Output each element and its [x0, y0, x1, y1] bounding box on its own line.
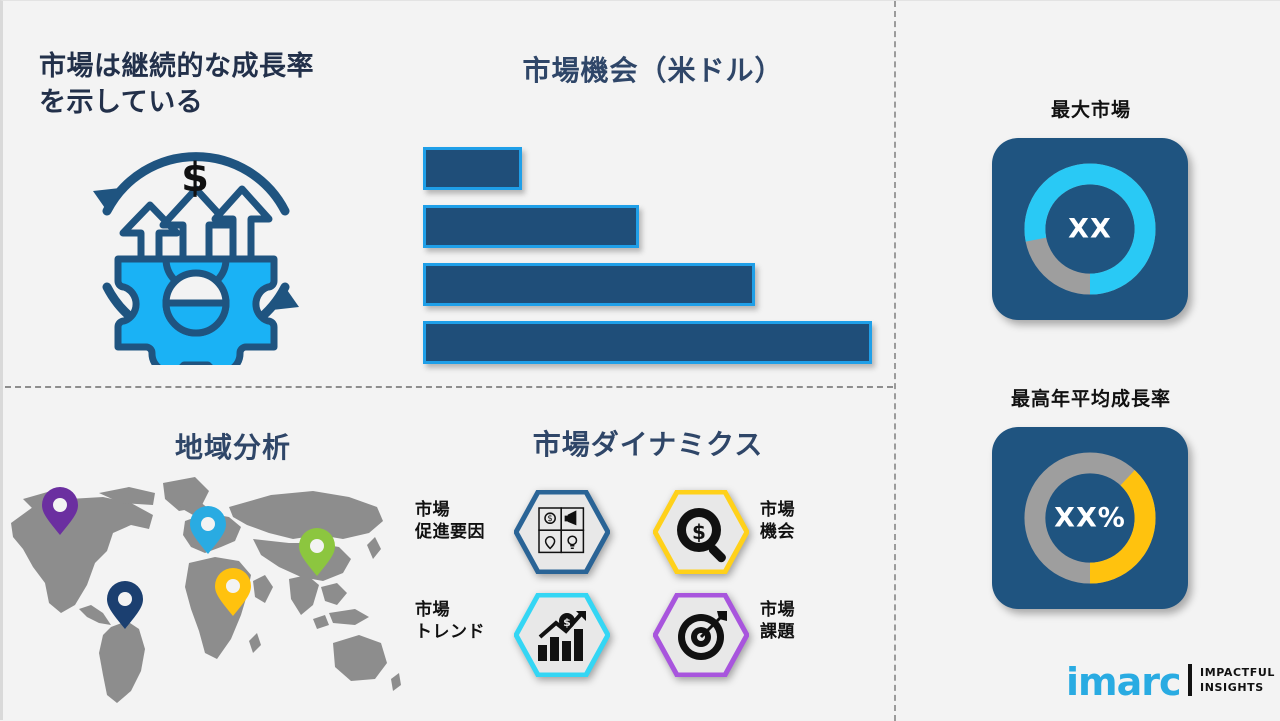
market-trends-hex[interactable]: $	[514, 593, 610, 677]
market-challenges-hex[interactable]	[653, 593, 749, 677]
svg-text:$: $	[563, 616, 571, 629]
bar-3	[423, 263, 755, 306]
bar-row	[423, 263, 755, 306]
highest-cagr-title: 最高年平均成長率	[941, 384, 1241, 411]
market-dynamics-title: 市場ダイナミクス	[413, 423, 883, 463]
largest-market-title: 最大市場	[941, 95, 1241, 122]
bar-2	[423, 205, 639, 248]
market-drivers-hex[interactable]: $	[514, 490, 610, 574]
bar-1	[423, 147, 522, 190]
logo-divider	[1188, 664, 1192, 696]
growth-title: 市場は継続的な成長率 を示している	[39, 49, 389, 122]
horizontal-dashed-divider	[5, 386, 893, 388]
bar-row	[423, 321, 872, 364]
world-map	[3, 463, 403, 713]
slide-canvas: 市場は継続的な成長率 を示している $	[0, 0, 1280, 720]
imarc-logo: imarc IMPACTFUL INSIGHTS	[1066, 656, 1266, 704]
svg-text:$: $	[547, 513, 552, 523]
bar-4	[423, 321, 872, 364]
bar-row	[423, 147, 522, 190]
market-trends-label: 市場 トレンド	[415, 599, 485, 643]
market-challenges-label: 市場 課題	[760, 599, 795, 643]
svg-text:$: $	[692, 520, 706, 544]
bar-row	[423, 205, 639, 248]
highest-cagr-value: XX%	[992, 503, 1188, 534]
market-opportunity-hex[interactable]: $	[653, 490, 749, 574]
logo-tagline: IMPACTFUL INSIGHTS	[1200, 666, 1275, 696]
regional-analysis-title: 地域分析	[63, 426, 403, 466]
market-drivers-label: 市場 促進要因	[415, 499, 485, 543]
largest-market-donut-card: XX	[992, 138, 1188, 320]
largest-market-value: XX	[992, 214, 1188, 245]
gear-growth-arrows-dollar-icon: $	[71, 133, 321, 365]
market-opportunity-title: 市場機会（米ドル）	[423, 49, 883, 89]
vertical-dashed-divider	[894, 1, 896, 721]
highest-cagr-donut-card: XX%	[992, 427, 1188, 609]
pin-south-america	[107, 581, 143, 629]
market-opportunity-bar-chart	[423, 147, 893, 352]
logo-wordmark: imarc	[1066, 660, 1181, 704]
market-opportunity-label: 市場 機会	[760, 499, 795, 543]
svg-text:$: $	[181, 155, 209, 201]
